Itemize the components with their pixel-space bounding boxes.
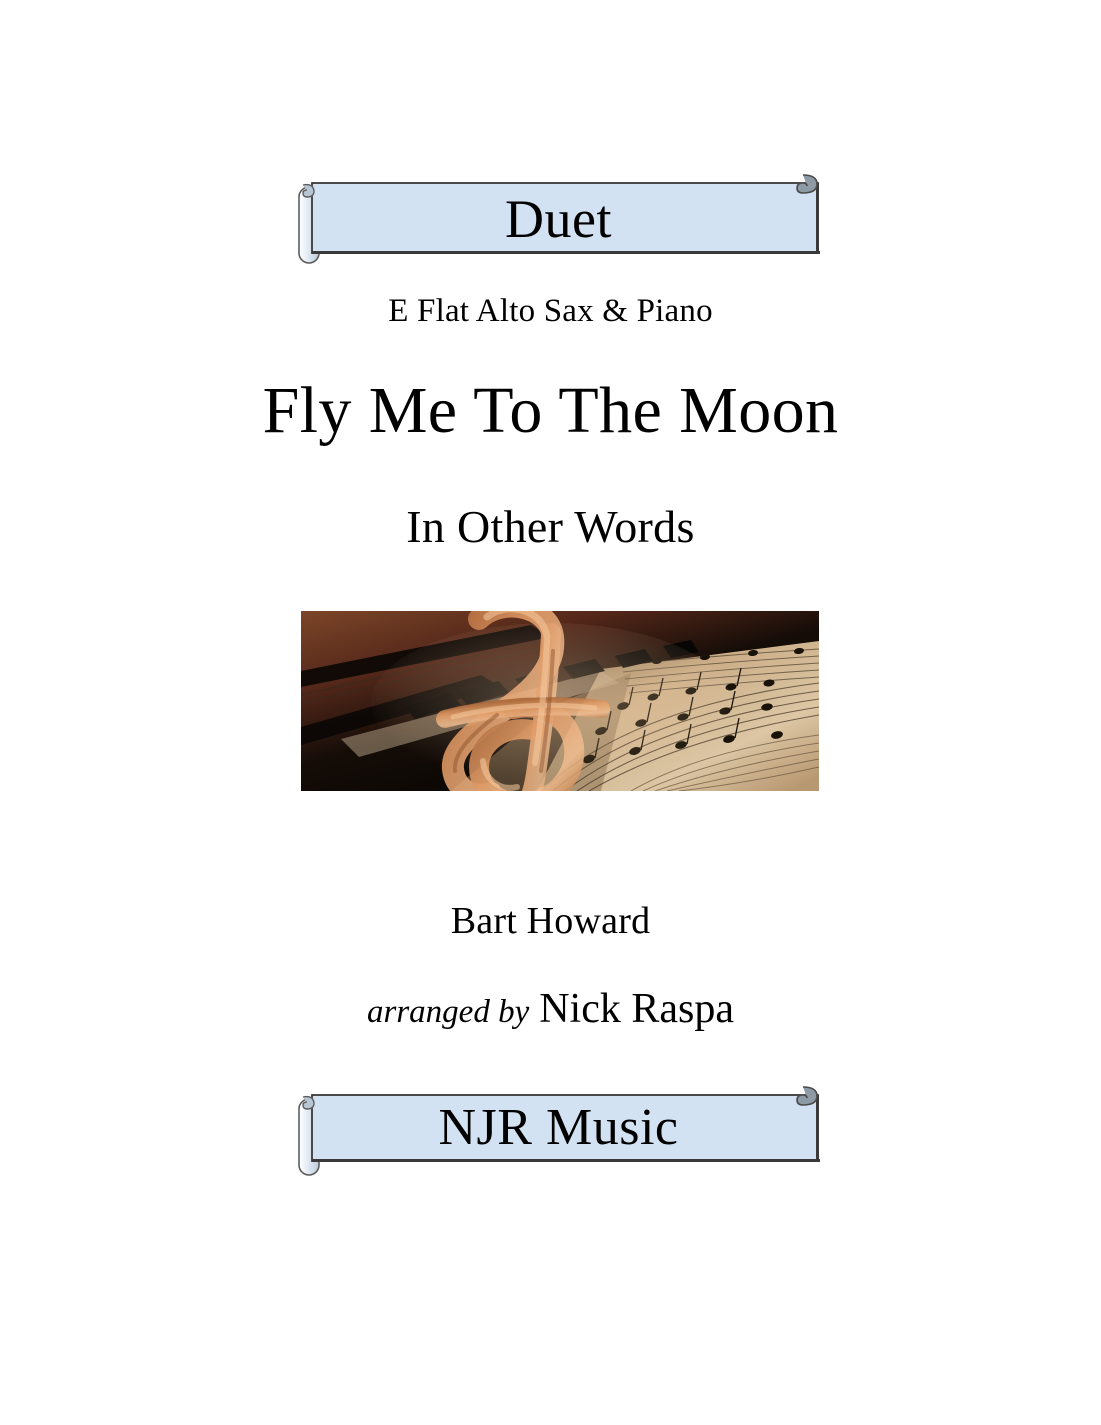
sheet-music-cover-page: Duet E Flat Alto Sax & Piano Fly Me To T…: [0, 0, 1101, 1425]
composer-name: Bart Howard: [0, 899, 1101, 943]
instrumentation-label: E Flat Alto Sax & Piano: [0, 293, 1101, 330]
footer-banner-scroll-shape: [295, 1093, 822, 1188]
footer-banner: NJR Music: [295, 1093, 822, 1188]
header-banner: Duet: [295, 173, 822, 268]
arranger-credit: arranged by Nick Raspa: [0, 985, 1101, 1033]
alternate-title: In Other Words: [0, 500, 1101, 553]
page-title: Fly Me To The Moon: [0, 373, 1101, 449]
treble-clef-icon: [301, 611, 819, 791]
arranger-prefix: arranged by: [367, 994, 529, 1030]
cover-art-image: [301, 611, 819, 791]
header-banner-scroll-shape: [295, 173, 822, 268]
arranger-name: Nick Raspa: [539, 986, 734, 1032]
